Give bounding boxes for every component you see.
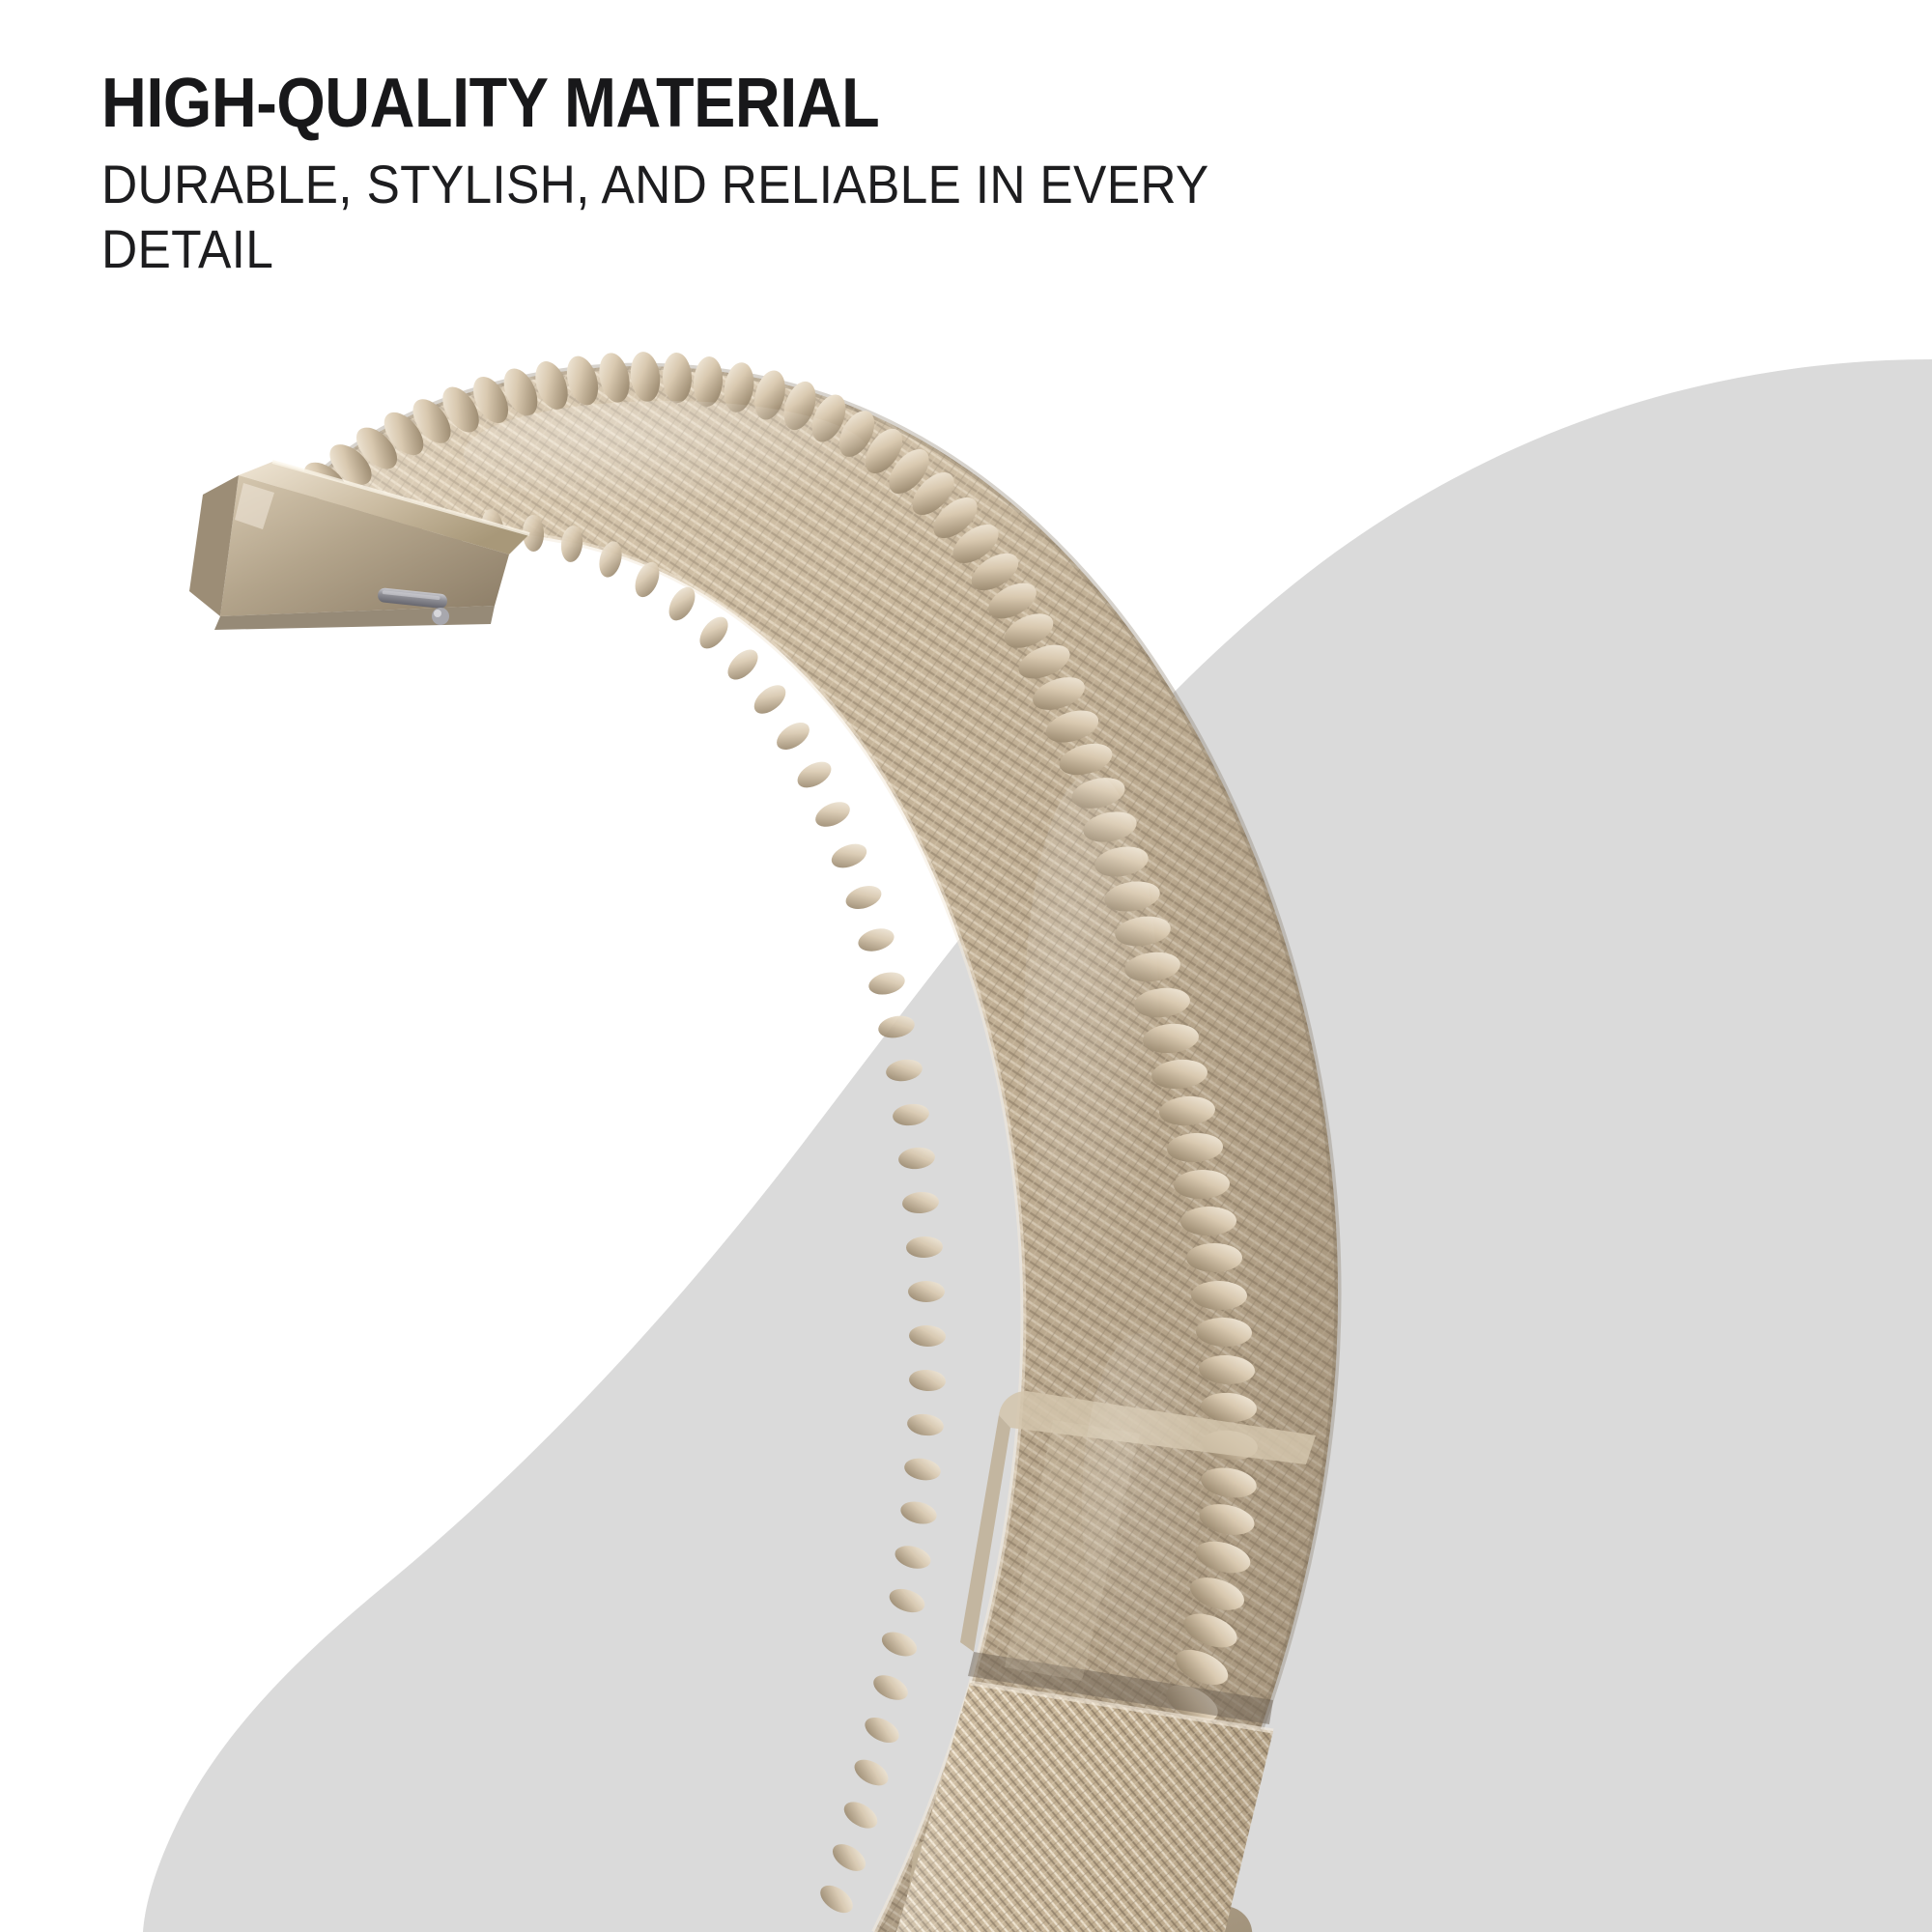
marketing-banner: HIGH-QUALITY MATERIAL DURABLE, STYLISH, … bbox=[0, 0, 1932, 1932]
page-title: HIGH-QUALITY MATERIAL bbox=[101, 70, 1406, 138]
strap-lower-segment bbox=[896, 1683, 1273, 1932]
marketing-text-block: HIGH-QUALITY MATERIAL DURABLE, STYLISH, … bbox=[101, 70, 1550, 281]
product-image bbox=[0, 0, 1932, 1932]
page-subtitle: DURABLE, STYLISH, AND RELIABLE IN EVERY … bbox=[101, 152, 1274, 281]
